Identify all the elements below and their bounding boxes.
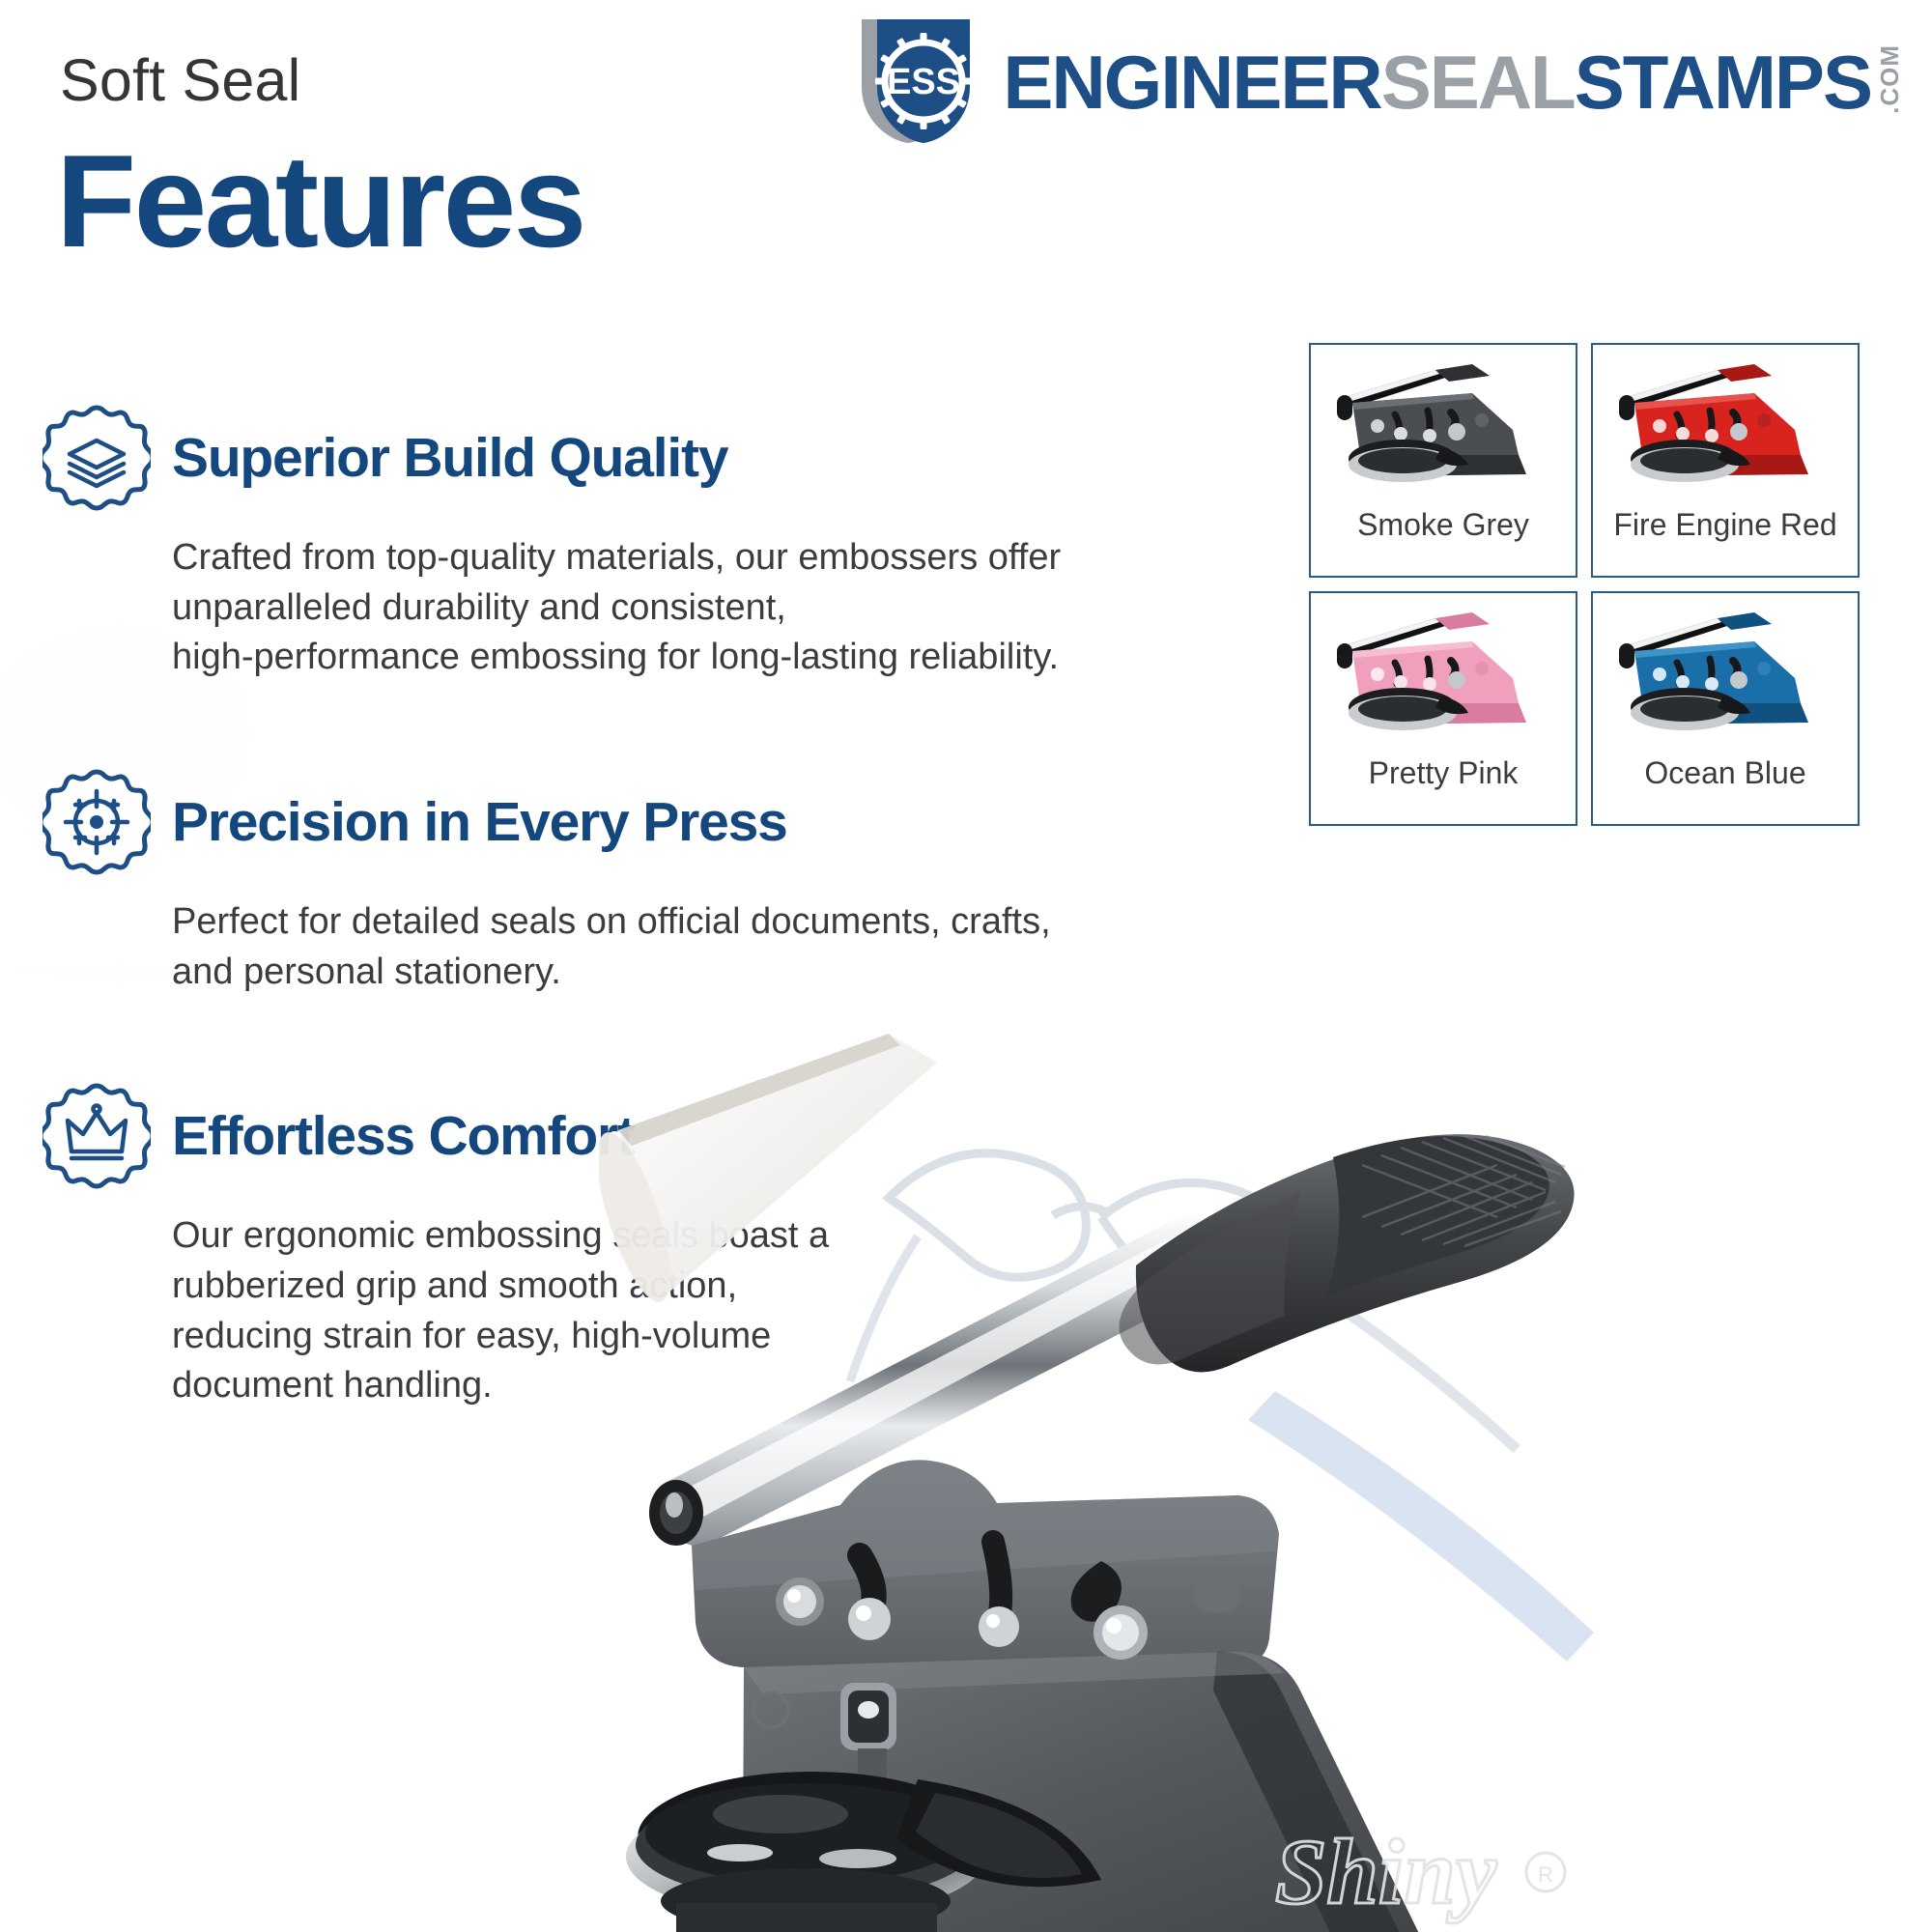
crown-seal-badge-icon	[43, 1082, 151, 1190]
color-swatch-ocean-blue[interactable]: Ocean Blue	[1591, 591, 1860, 826]
layers-seal-badge-icon	[43, 404, 151, 512]
svg-text:R: R	[1538, 1862, 1553, 1887]
brand-logo[interactable]: ESS ENGINEER SEAL STAMPS .COM	[848, 14, 1905, 149]
feature-item-build-quality: Superior Build Quality Crafted from top-…	[43, 404, 1028, 683]
swatch-label: Fire Engine Red	[1613, 507, 1836, 543]
feature-item-precision: Precision in Every Press Perfect for det…	[43, 768, 1028, 997]
svg-text:MODEL - EM: MODEL - EM	[1381, 1925, 1638, 1932]
feature-title: Effortless Comfort	[172, 1104, 635, 1168]
embosser-thumbnail-ocean-blue	[1599, 603, 1852, 748]
feature-body-line: Crafted from top-quality materials, our …	[172, 533, 1028, 583]
embosser-thumbnail-smoke-grey	[1317, 355, 1570, 499]
page-eyebrow: Soft Seal	[60, 46, 300, 114]
feature-title: Superior Build Quality	[172, 426, 727, 490]
crosshair-seal-badge-icon	[43, 768, 151, 876]
wordmark-seal: SEAL	[1381, 48, 1575, 118]
swatch-label: Ocean Blue	[1644, 755, 1805, 791]
hero-product-embosser: Shiny R MODEL - EM	[599, 976, 1932, 1932]
wordmark-engineer: ENGINEER	[1003, 48, 1380, 118]
embosser-thumbnail-pretty-pink	[1317, 603, 1570, 748]
rubber-grip-handle	[1119, 1134, 1574, 1372]
wordmark-stamps: STAMPS	[1575, 48, 1871, 118]
shiny-brand-engraving: Shiny R MODEL - EM	[1275, 1820, 1638, 1932]
feature-body-line: high-performance embossing for long-last…	[172, 633, 1028, 683]
svg-text:Shiny: Shiny	[1275, 1820, 1497, 1923]
brand-wordmark: ENGINEER SEAL STAMPS .COM	[1003, 44, 1905, 118]
color-options-grid: Smoke Grey	[1309, 343, 1860, 826]
swatch-label: Pretty Pink	[1369, 755, 1519, 791]
feature-title: Precision in Every Press	[172, 790, 787, 854]
color-swatch-smoke-grey[interactable]: Smoke Grey	[1309, 343, 1577, 578]
ess-shield-icon: ESS	[848, 14, 983, 149]
swatch-label: Smoke Grey	[1357, 507, 1529, 543]
wordmark-dotcom: .COM	[1875, 44, 1905, 114]
page-title: Features	[56, 135, 584, 267]
feature-body-line: unparalleled durability and consistent,	[172, 583, 1028, 634]
feature-body-line: Perfect for detailed seals on official d…	[172, 897, 1028, 948]
color-swatch-pretty-pink[interactable]: Pretty Pink	[1309, 591, 1577, 826]
ess-monogram: ESS	[887, 62, 960, 102]
feature-body: Crafted from top-quality materials, our …	[172, 533, 1028, 683]
background-rolled-paper	[599, 1034, 937, 1310]
color-swatch-fire-engine-red[interactable]: Fire Engine Red	[1591, 343, 1860, 578]
embosser-thumbnail-fire-engine-red	[1599, 355, 1852, 499]
infographic-page: Soft Seal Features	[0, 0, 1932, 1932]
